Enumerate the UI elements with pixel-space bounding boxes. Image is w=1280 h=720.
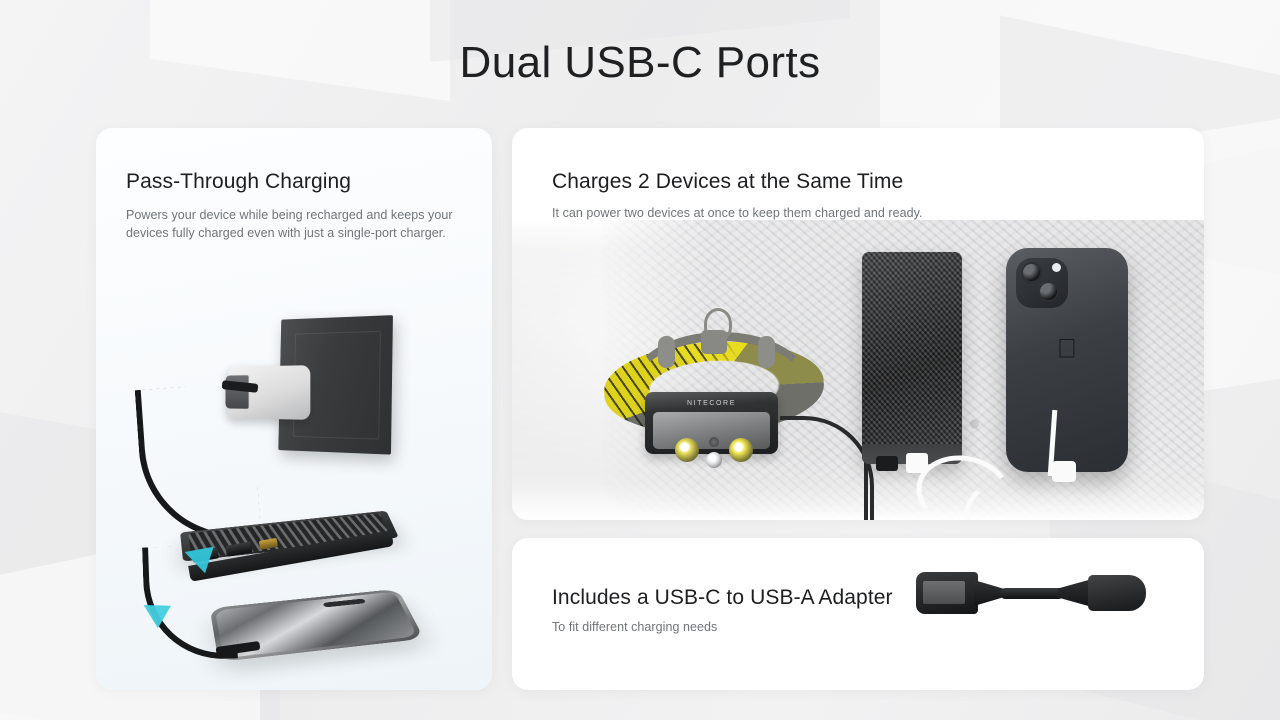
adapter-body: To fit different charging needs	[552, 618, 972, 636]
pass-through-text-block: Pass-Through Charging Powers your device…	[126, 170, 466, 242]
pass-through-heading: Pass-Through Charging	[126, 170, 466, 194]
pass-through-body: Powers your device while being recharged…	[126, 206, 461, 242]
wall-charger-powerbank-phone-illustration	[96, 298, 492, 690]
headlamp-led	[729, 438, 753, 462]
two-devices-text-block: Charges 2 Devices at the Same Time It ca…	[552, 170, 1152, 222]
headlamp-powerbank-iphone-photo: NITECORE 	[512, 220, 1204, 520]
iphone-camera-island	[1016, 258, 1068, 308]
headlamp-led	[706, 452, 722, 468]
headlamp-brand-label: NITECORE	[645, 400, 778, 407]
usb-a-slot	[923, 581, 965, 604]
card-charges-two-devices: Charges 2 Devices at the Same Time It ca…	[512, 128, 1204, 520]
iphone-camera-lens	[1038, 281, 1059, 302]
iphone-flash-icon	[1052, 263, 1061, 272]
headlamp-side-clip	[658, 336, 675, 368]
iphone-camera-lens	[1021, 262, 1042, 283]
carbon-fiber-power-bank	[862, 252, 962, 464]
adapter-text-block: Includes a USB-C to USB-A Adapter To fit…	[552, 586, 972, 636]
headlamp-led	[675, 438, 699, 462]
apple-logo-icon: 	[1057, 335, 1077, 362]
usb-c-male-plug	[1088, 575, 1146, 611]
card-usb-adapter: Includes a USB-C to USB-A Adapter To fit…	[512, 538, 1204, 690]
adapter-heading: Includes a USB-C to USB-A Adapter	[552, 586, 972, 610]
nitecore-headlamp: NITECORE	[645, 392, 778, 454]
card-pass-through-charging: Pass-Through Charging Powers your device…	[96, 128, 492, 690]
adapter-strain-relief	[1058, 579, 1092, 607]
iphone: 	[1006, 248, 1128, 472]
headlamp-button-icon	[709, 437, 719, 447]
usb-c-to-usb-a-adapter	[916, 560, 1146, 626]
two-devices-heading: Charges 2 Devices at the Same Time	[552, 170, 1152, 194]
power-bank-port-black-cable	[876, 456, 898, 471]
headlamp-lens-panel	[653, 412, 770, 449]
adapter-cable	[1000, 588, 1064, 599]
page-title: Dual USB-C Ports	[0, 38, 1280, 88]
headlamp-strap-buckle	[701, 330, 727, 354]
usb-a-female-port	[916, 572, 978, 614]
charger-cable	[135, 382, 262, 546]
headlamp-side-clip	[758, 336, 775, 368]
